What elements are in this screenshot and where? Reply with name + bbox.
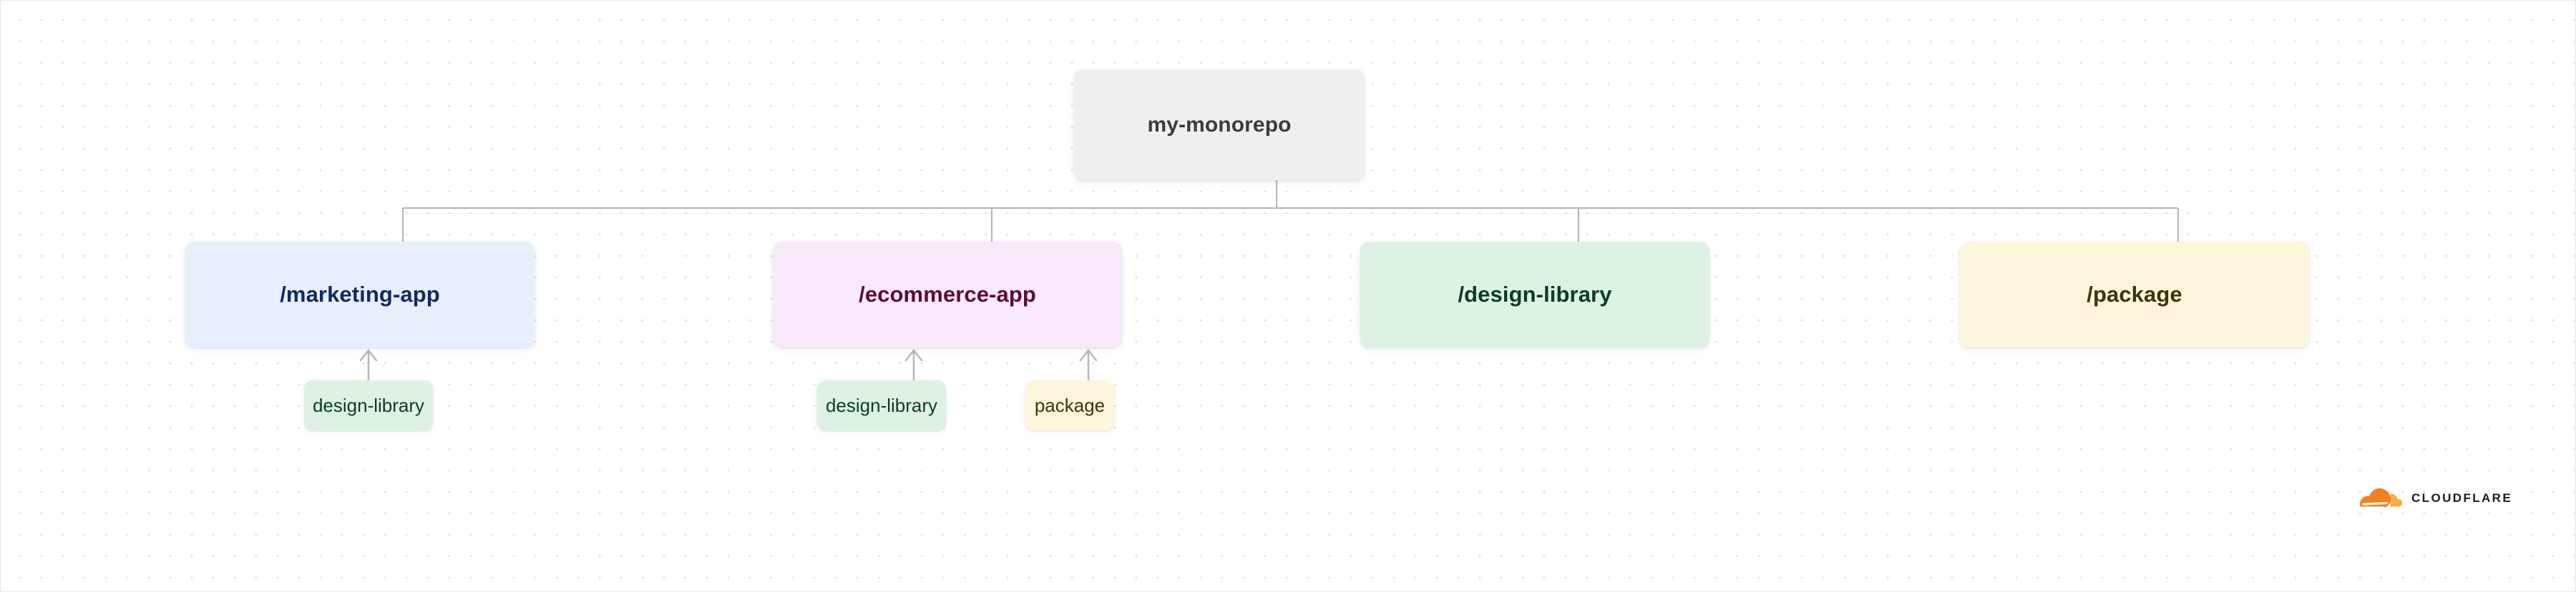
dependency-chip-design-library[interactable]: design-library xyxy=(304,380,433,430)
cloudflare-cloud-icon xyxy=(2351,487,2404,510)
node-label: /ecommerce-app xyxy=(859,282,1036,307)
dep-arrowhead-ecommerce-design xyxy=(906,350,922,360)
node-label: /marketing-app xyxy=(280,282,440,307)
node-package[interactable]: /package xyxy=(1960,242,2309,347)
cloudflare-wordmark: CLOUDFLARE xyxy=(2411,491,2512,505)
dependency-chip-design-library[interactable]: design-library xyxy=(817,380,946,430)
diagram-canvas: my-monorepo /marketing-app /ecommerce-ap… xyxy=(0,0,2576,592)
dependency-chip-label: design-library xyxy=(826,395,937,417)
cloudflare-logo: CLOUDFLARE xyxy=(2351,487,2512,510)
node-label: /design-library xyxy=(1458,282,1611,307)
node-my-monorepo[interactable]: my-monorepo xyxy=(1074,69,1365,180)
dep-arrowhead-marketing-design xyxy=(361,350,376,360)
node-label: my-monorepo xyxy=(1147,113,1291,137)
dependency-chip-label: package xyxy=(1035,395,1105,417)
node-design-library[interactable]: /design-library xyxy=(1360,242,1709,347)
node-ecommerce-app[interactable]: /ecommerce-app xyxy=(773,242,1122,347)
dep-arrowhead-ecommerce-package xyxy=(1080,350,1096,360)
node-marketing-app[interactable]: /marketing-app xyxy=(185,242,535,347)
dependency-chip-label: design-library xyxy=(313,395,424,417)
dependency-chip-package[interactable]: package xyxy=(1025,380,1114,430)
node-label: /package xyxy=(2087,282,2182,307)
